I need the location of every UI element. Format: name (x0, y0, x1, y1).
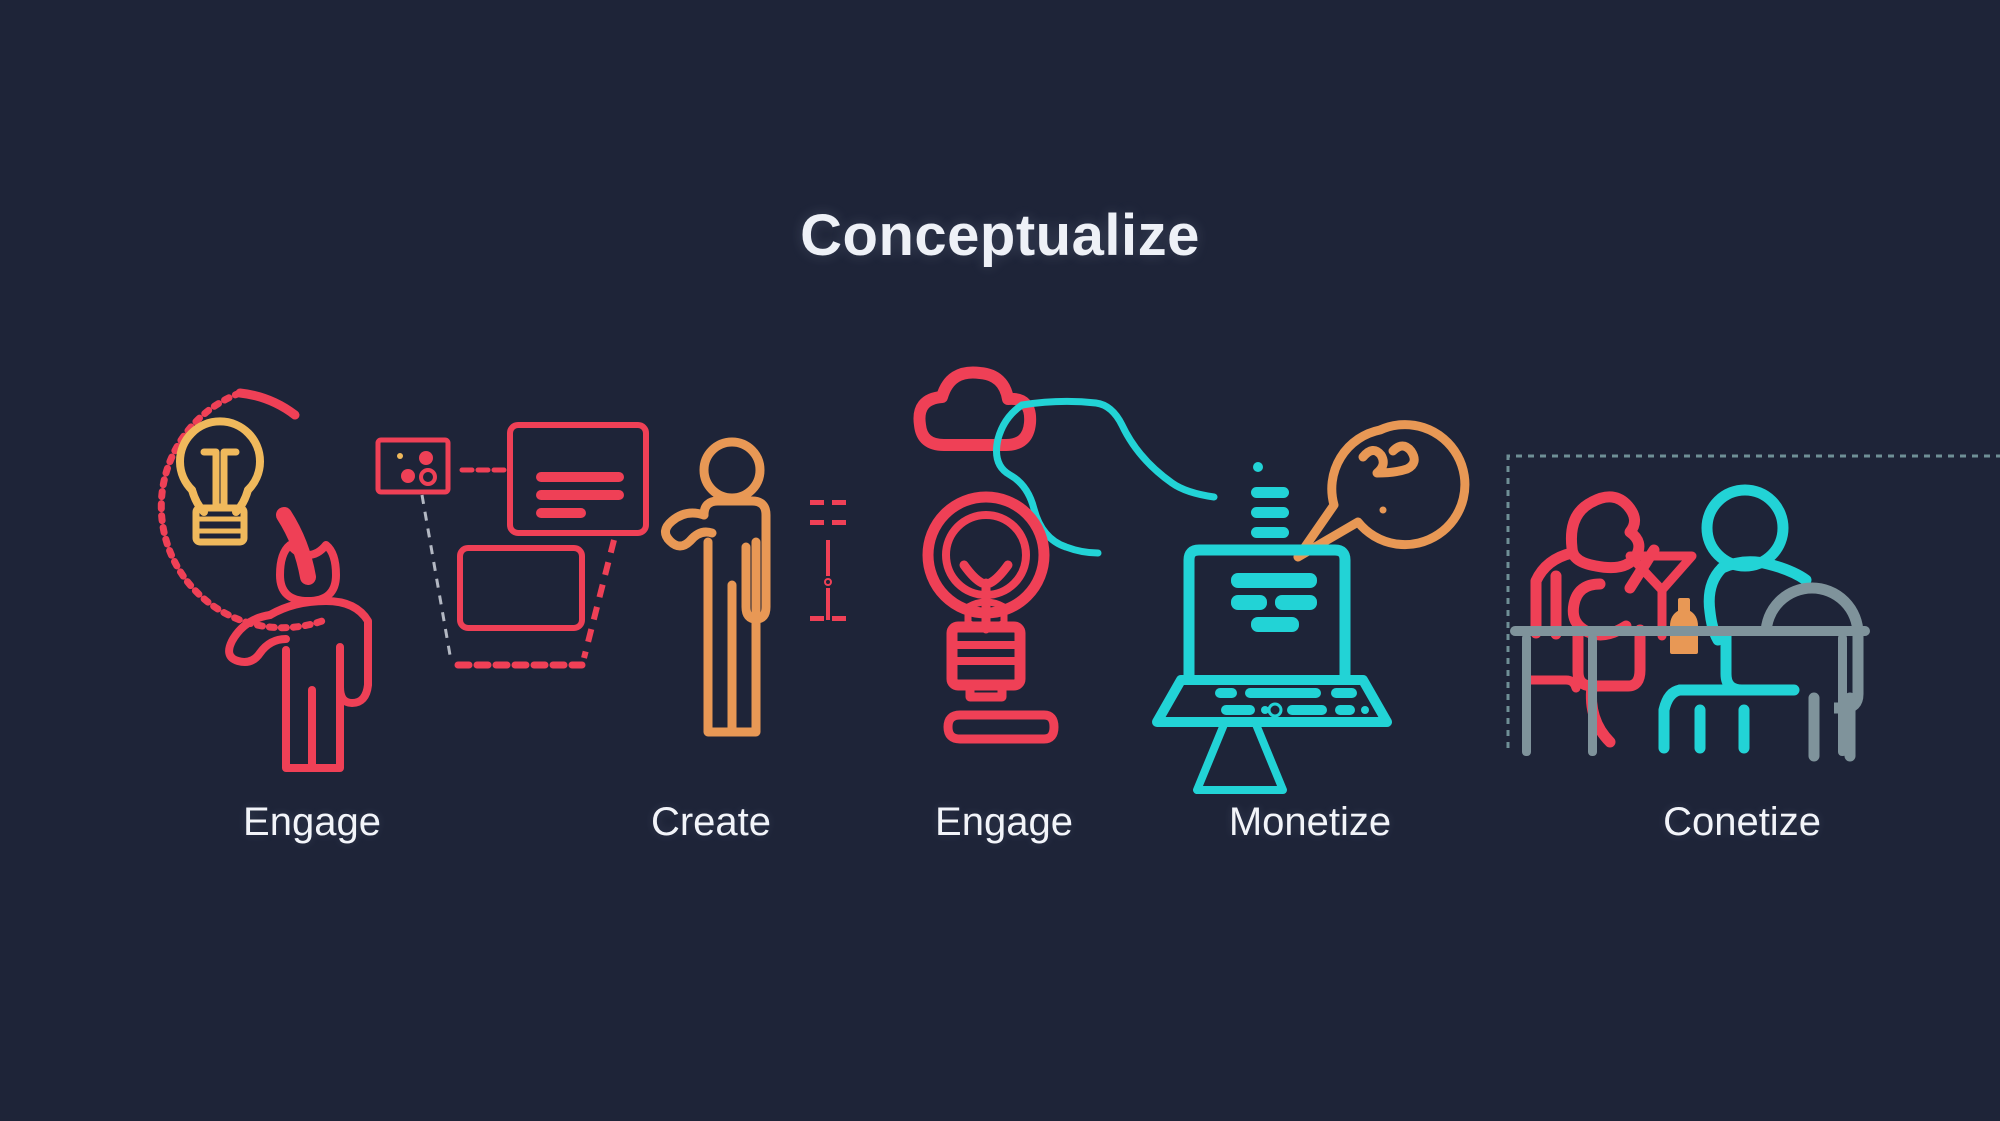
infographic-canvas: Conceptualize (0, 0, 2000, 1121)
panel-dot-icon (397, 453, 403, 459)
connector-dashed (584, 540, 614, 658)
measure-marks (810, 500, 846, 621)
stacked-bars-icon (1251, 462, 1289, 538)
icon-create-wireframe (370, 420, 670, 710)
speech-bubble-icon (1298, 425, 1465, 557)
step-label-3: Engage (935, 800, 1073, 845)
teal-curve-lower-icon (997, 405, 1099, 553)
laptop-keys-icon (1215, 688, 1369, 716)
teal-curve-icon (1022, 401, 1214, 497)
wireframe-small-panel (378, 440, 448, 492)
step-label-1: Engage (243, 800, 381, 845)
page-title: Conceptualize (0, 202, 2000, 269)
step-label-5: Conetize (1663, 800, 1821, 845)
dashed-arc-solid-cap (240, 393, 295, 415)
wireframe-text-lines (536, 472, 624, 518)
icon-create-presenter (660, 430, 860, 760)
panel-dot-icon (421, 470, 435, 484)
step-label-4: Monetize (1229, 800, 1391, 845)
dashed-frame (1508, 456, 2000, 748)
icon-conetize-people-table (1500, 448, 2000, 758)
base-bar-icon (948, 715, 1054, 739)
icon-engage-lightbulb-person (90, 360, 390, 770)
laptop-stand-icon (1197, 722, 1283, 790)
lightbulb-icon (928, 497, 1044, 697)
wireframe-empty-panel (460, 548, 582, 628)
presenter-head-icon (704, 442, 760, 498)
laptop-screen-icon (1189, 550, 1345, 680)
lightbulb-icon (180, 421, 260, 542)
icon-engage-cloud-lightbulb (900, 355, 1230, 755)
panel-dot-icon (401, 469, 415, 483)
connector-dashed (422, 495, 450, 655)
person-figure-icon (229, 515, 368, 768)
step-label-2: Create (651, 800, 771, 845)
panel-dot-icon (419, 451, 433, 465)
icon-monetize-laptop (1195, 385, 1515, 760)
laptop-screen-text-icon (1231, 573, 1317, 632)
